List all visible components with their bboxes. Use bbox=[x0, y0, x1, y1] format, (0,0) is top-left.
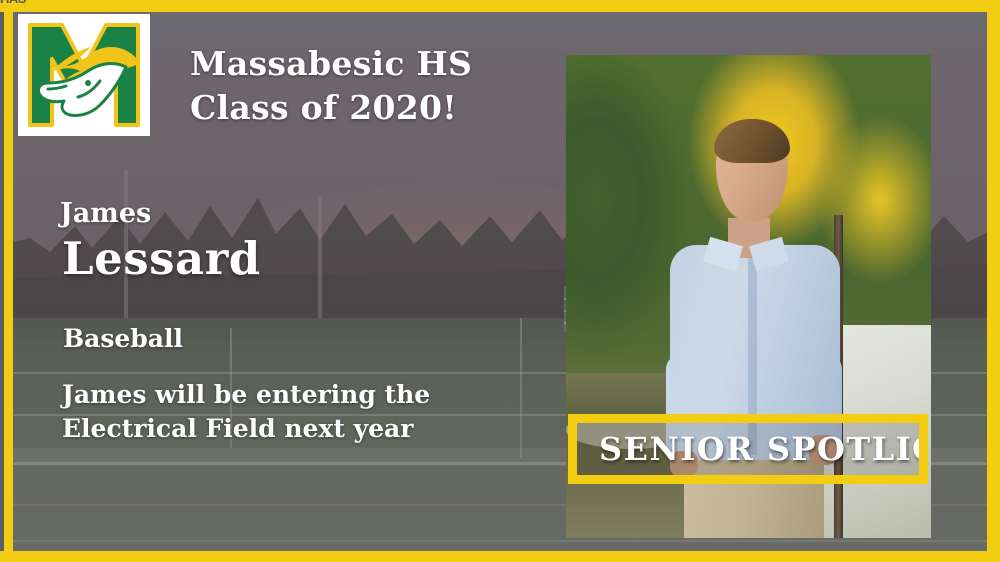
senior-spotlight-label: SENIOR SPOTLIG bbox=[599, 430, 928, 468]
senior-spotlight-graphic: HAS Massabesic HS Class of 2020! James L… bbox=[0, 0, 1000, 562]
student-last-name: Lessard bbox=[62, 232, 261, 285]
mustang-m-logo bbox=[22, 19, 146, 131]
corner-clipped-text: HAS bbox=[0, 0, 30, 9]
frame-left bbox=[4, 0, 13, 562]
corner-clipped-text-label: HAS bbox=[0, 0, 26, 6]
frame-right bbox=[987, 0, 1000, 562]
frame-bottom bbox=[0, 551, 1000, 562]
student-sport: Baseball bbox=[63, 324, 183, 353]
page-title: Massabesic HS Class of 2020! bbox=[190, 42, 472, 129]
title-line-2: Class of 2020! bbox=[190, 86, 472, 130]
frame-top bbox=[0, 0, 1000, 12]
student-first-name: James bbox=[60, 198, 151, 229]
title-line-1: Massabesic HS bbox=[190, 42, 472, 86]
student-blurb: James will be entering the Electrical Fi… bbox=[62, 378, 492, 445]
senior-spotlight-banner: SENIOR SPOTLIG bbox=[568, 414, 928, 484]
school-logo bbox=[18, 14, 150, 136]
